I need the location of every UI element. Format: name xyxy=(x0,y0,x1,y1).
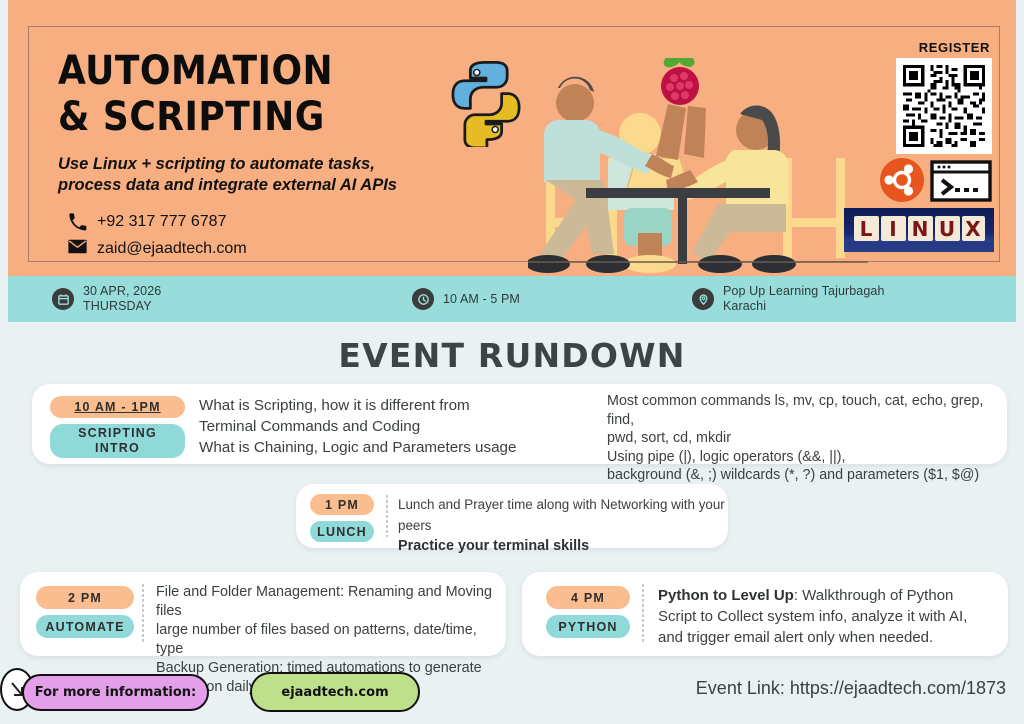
automate-line1: File and Folder Management: Renaming and… xyxy=(156,583,506,621)
event-link-text[interactable]: Event Link: https://ejaadtech.com/1873 xyxy=(696,678,1006,699)
automate-tag-badge: AUTOMATE xyxy=(36,615,134,638)
lunch-pill-group: 1 PM LUNCH xyxy=(310,494,374,542)
scripting-right-line2: pwd, sort, cd, mkdir xyxy=(607,429,1007,448)
python-text: Python to Level Up: Walkthrough of Pytho… xyxy=(658,585,1008,648)
contact-phone: +92 317 777 6787 xyxy=(58,212,458,231)
page-title-line1: AUTOMATION xyxy=(58,48,458,94)
section-title: EVENT RUNDOWN xyxy=(0,336,1024,375)
info-date-line1: 30 APR, 2026 xyxy=(83,284,161,298)
scripting-pill-group: 10 AM - 1PM SCRIPTING INTRO xyxy=(50,396,185,458)
more-information-button[interactable]: For more information: xyxy=(22,674,209,711)
scripting-time-text: 10 AM - 1PM xyxy=(74,400,160,414)
terminal-window-icon xyxy=(930,160,992,202)
contact-email: zaid@ejaadtech.com xyxy=(58,239,458,258)
svg-text:I: I xyxy=(889,217,896,241)
info-date-line2: THURSDAY xyxy=(83,299,161,314)
page-title-line2: & SCRIPTING xyxy=(58,94,458,140)
python-line1-rest: : Walkthrough of Python xyxy=(794,587,954,604)
agenda-card-lunch: 1 PM LUNCH Lunch and Prayer time along w… xyxy=(296,484,728,548)
python-line1: Python to Level Up: Walkthrough of Pytho… xyxy=(658,585,1008,606)
poster-footer: For more information: ejaadtech.com Even… xyxy=(0,668,1024,724)
info-venue-text: Pop Up Learning Tajurbagah Karachi xyxy=(723,284,885,314)
automate-pill-group: 2 PM AUTOMATE xyxy=(36,586,134,638)
svg-text:N: N xyxy=(912,217,929,241)
lunch-tag-badge: LUNCH xyxy=(310,521,374,542)
agenda-card-python: 4 PM PYTHON Python to Level Up: Walkthro… xyxy=(522,572,1008,656)
clock-icon xyxy=(412,288,434,310)
register-label: REGISTER xyxy=(919,40,990,55)
info-time-text: 10 AM - 5 PM xyxy=(443,292,520,307)
linux-logo-image: LINUX xyxy=(844,208,994,252)
info-venue-line2: Karachi xyxy=(723,299,885,314)
scripting-right-line3: Using pipe (|), logic operators (&&, ||)… xyxy=(607,448,1007,467)
qr-code[interactable] xyxy=(896,58,992,154)
lunch-divider xyxy=(386,495,388,537)
email-address: zaid@ejaadtech.com xyxy=(97,240,247,258)
scripting-right-line4: background (&, ;) wildcards (*, ?) and p… xyxy=(607,466,1007,485)
python-tag-badge: PYTHON xyxy=(546,615,630,638)
scripting-tag-badge: SCRIPTING INTRO xyxy=(50,424,185,458)
scripting-left-line1: What is Scripting, how it is different f… xyxy=(199,395,571,416)
lunch-time-badge: 1 PM xyxy=(310,494,374,515)
calendar-icon xyxy=(52,288,74,310)
scripting-time-badge: 10 AM - 1PM xyxy=(50,396,185,418)
info-venue: Pop Up Learning Tajurbagah Karachi xyxy=(692,284,992,314)
python-pill-group: 4 PM PYTHON xyxy=(546,586,630,638)
svg-text:L: L xyxy=(860,217,873,241)
info-venue-line1: Pop Up Learning Tajurbagah xyxy=(723,284,885,298)
scripting-right-line1: Most common commands ls, mv, cp, touch, … xyxy=(607,392,1007,429)
contact-list: +92 317 777 6787 zaid@ejaadtech.com xyxy=(58,212,458,258)
poster-header: AUTOMATION & SCRIPTING Use Linux + scrip… xyxy=(8,0,1016,276)
python-line2: Script to Collect system info, analyze i… xyxy=(658,606,1008,627)
agenda-card-scripting: 10 AM - 1PM SCRIPTING INTRO What is Scri… xyxy=(32,384,1007,464)
lunch-line1: Lunch and Prayer time along with Network… xyxy=(398,494,728,536)
scripting-tag-line2: INTRO xyxy=(95,441,140,456)
location-pin-icon xyxy=(692,288,714,310)
scripting-left-text: What is Scripting, how it is different f… xyxy=(199,395,571,458)
svg-text:U: U xyxy=(939,217,955,241)
python-divider xyxy=(642,584,644,644)
lunch-line2: Practice your terminal skills xyxy=(398,536,728,557)
event-info-bar: 30 APR, 2026 THURSDAY 10 AM - 5 PM Pop U… xyxy=(8,276,1016,322)
website-button[interactable]: ejaadtech.com xyxy=(250,672,420,712)
scripting-left-line2: Terminal Commands and Coding xyxy=(199,416,571,437)
ubuntu-logo-icon xyxy=(880,158,924,202)
envelope-icon xyxy=(68,239,87,258)
python-line3: and trigger email alert only when needed… xyxy=(658,627,1008,648)
automate-time-badge: 2 PM xyxy=(36,586,134,609)
automate-divider xyxy=(142,584,144,644)
scripting-tag-line1: SCRIPTING xyxy=(78,426,157,441)
python-logo-icon xyxy=(440,55,532,147)
phone-icon xyxy=(68,212,87,231)
people-at-table-illustration xyxy=(528,58,868,276)
phone-number: +92 317 777 6787 xyxy=(97,213,226,231)
title-block: AUTOMATION & SCRIPTING Use Linux + scrip… xyxy=(58,48,458,266)
python-time-badge: 4 PM xyxy=(546,586,630,609)
lunch-text: Lunch and Prayer time along with Network… xyxy=(398,494,728,557)
scripting-left-line3: What is Chaining, Logic and Parameters u… xyxy=(199,437,571,458)
info-date: 30 APR, 2026 THURSDAY xyxy=(52,284,412,314)
svg-text:X: X xyxy=(965,217,981,241)
scripting-right-text: Most common commands ls, mv, cp, touch, … xyxy=(607,392,1007,485)
automate-line2: large number of files based on patterns,… xyxy=(156,621,506,659)
info-date-text: 30 APR, 2026 THURSDAY xyxy=(83,284,161,314)
event-poster: AUTOMATION & SCRIPTING Use Linux + scrip… xyxy=(0,0,1024,724)
python-bold-lead: Python to Level Up xyxy=(658,587,794,604)
agenda-card-automate: 2 PM AUTOMATE File and Folder Management… xyxy=(20,572,506,656)
subtitle: Use Linux + scripting to automate tasks,… xyxy=(58,154,428,196)
info-time: 10 AM - 5 PM xyxy=(412,288,692,310)
